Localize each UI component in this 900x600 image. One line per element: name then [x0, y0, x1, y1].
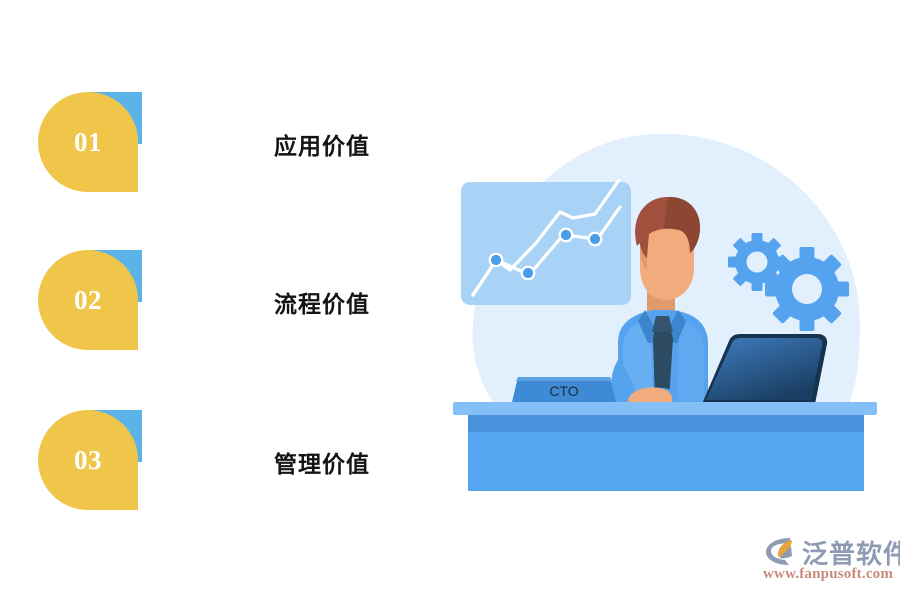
value-badge-03: 03	[38, 410, 142, 514]
chart-point-marker	[523, 268, 533, 278]
value-item-02[interactable]: 02 流程价值	[0, 250, 440, 360]
chart-trend-line-overlay	[573, 236, 588, 238]
badge-number: 01	[38, 92, 138, 192]
chart-point-marker	[491, 255, 501, 265]
desk-front	[468, 432, 864, 491]
badge-number: 02	[38, 250, 138, 350]
value-badge-02: 02	[38, 250, 142, 354]
nameplate-top	[516, 377, 612, 381]
cto-at-desk-illustration: CTO	[440, 110, 890, 510]
chart-point-marker	[590, 234, 600, 244]
fanpu-logo-icon	[765, 536, 801, 566]
desk-shade-band	[468, 415, 864, 432]
chart-panel	[461, 180, 631, 305]
nameplate: CTO	[512, 377, 616, 402]
desk-top	[453, 402, 877, 415]
slide-canvas: 01 应用价值 02 流程价值 03 管理价值	[0, 0, 900, 600]
chart-point-marker	[561, 230, 571, 240]
value-list: 01 应用价值 02 流程价值 03 管理价值	[0, 0, 440, 600]
value-item-03[interactable]: 03 管理价值	[0, 410, 440, 520]
value-label: 管理价值	[274, 410, 370, 514]
value-item-01[interactable]: 01 应用价值	[0, 92, 440, 202]
value-label: 流程价值	[274, 250, 370, 354]
badge-number: 03	[38, 410, 138, 510]
watermark-url: www.fanpusoft.com	[763, 566, 893, 583]
value-label: 应用价值	[274, 92, 370, 196]
watermark: 泛普软件 www.fanpusoft.com	[762, 534, 894, 590]
nameplate-label: CTO	[549, 383, 578, 399]
value-badge-01: 01	[38, 92, 142, 196]
